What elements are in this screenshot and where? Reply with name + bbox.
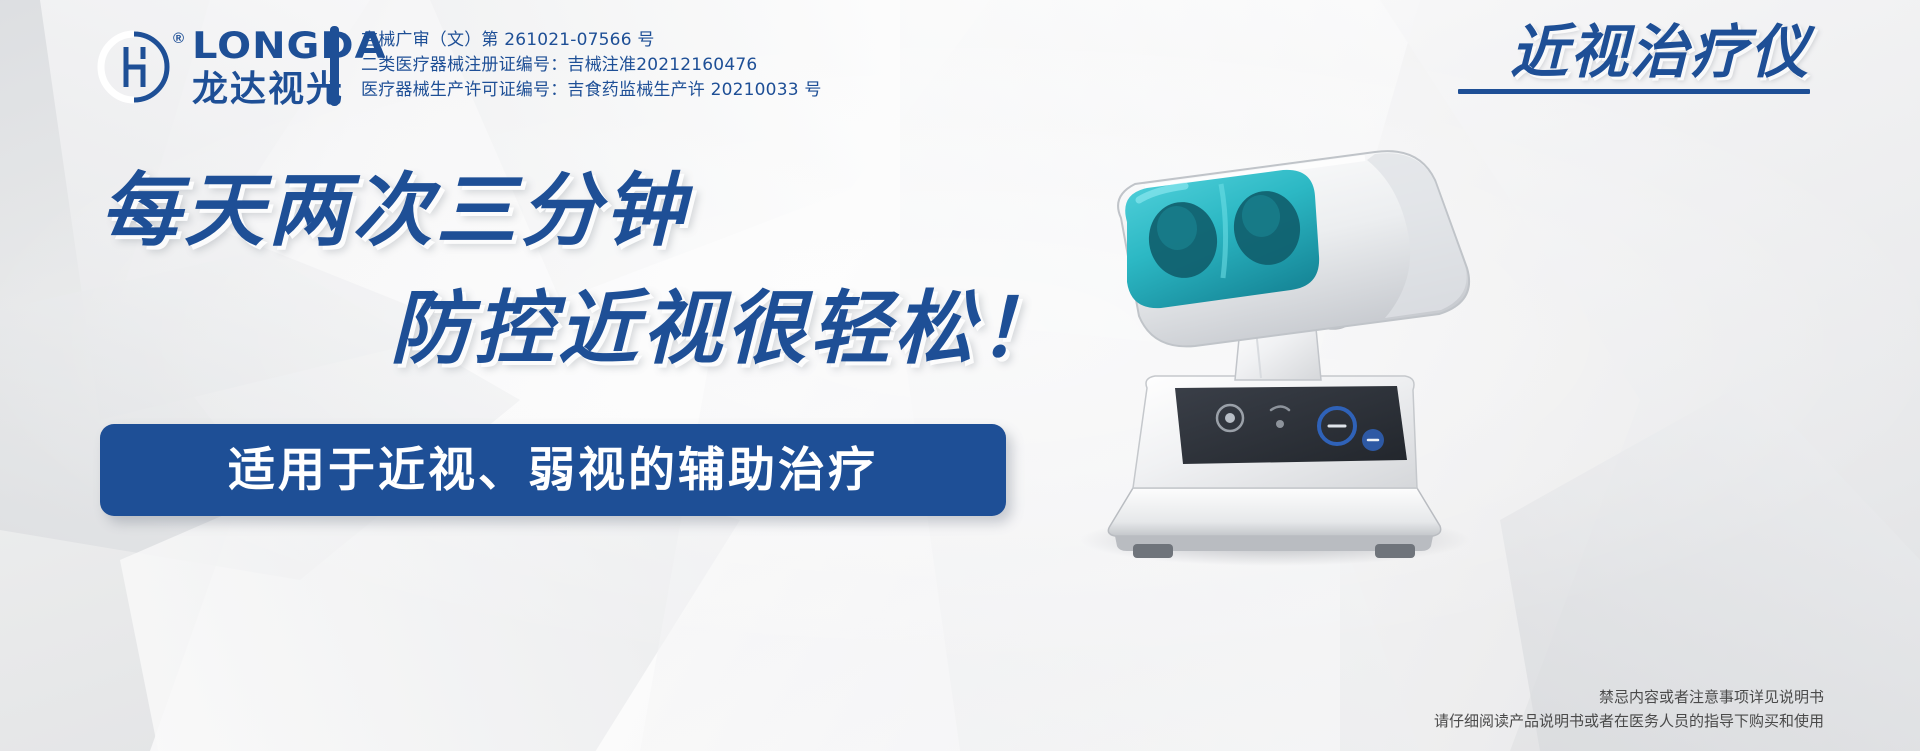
product-name-block: 近视治疗仪	[1458, 22, 1810, 94]
compliance-line-3: 医疗器械生产许可证编号：吉食药监械生产许 20210033 号	[361, 78, 822, 103]
headline-line-1: 每天两次三分钟	[100, 170, 688, 250]
headline-line-2: 防控近视很轻松！	[390, 288, 1062, 368]
compliance-line-2: 二类医疗器械注册证编号：吉械注准20212160476	[361, 53, 822, 78]
compliance-line-1: 吉械广审（文）第 261021-07566 号	[361, 28, 822, 53]
longda-circle-monogram-icon: ®	[96, 29, 172, 105]
brand-chinese-name: 龙达视光	[192, 72, 387, 108]
brand-logo: ® LONGDA 龙达视光	[96, 24, 387, 110]
myopia-treatment-device-photo	[1015, 88, 1575, 568]
brand-wordmark: LONGDA 龙达视光	[192, 26, 387, 108]
callout-text: 适用于近视、弱视的辅助治疗	[228, 447, 878, 494]
background-vignette	[0, 0, 1920, 751]
disclaimer-line-2: 请仔细阅读产品说明书或者在医务人员的指导下购买和使用	[1434, 709, 1824, 733]
disclaimer-block: 禁忌内容或者注意事项详见说明书 请仔细阅读产品说明书或者在医务人员的指导下购买和…	[1434, 685, 1824, 733]
logo-divider	[330, 26, 339, 106]
brand-latin-name: LONGDA	[192, 28, 387, 65]
product-name: 近视治疗仪	[1458, 22, 1810, 83]
disclaimer-line-1: 禁忌内容或者注意事项详见说明书	[1434, 685, 1824, 709]
callout-banner: 适用于近视、弱视的辅助治疗	[100, 424, 1006, 516]
compliance-text-block: 吉械广审（文）第 261021-07566 号 二类医疗器械注册证编号：吉械注准…	[361, 28, 822, 103]
registered-trademark-mark: ®	[173, 31, 184, 46]
advertisement-banner: ® LONGDA 龙达视光 吉械广审（文）第 261021-07566 号 二类…	[0, 0, 1920, 751]
